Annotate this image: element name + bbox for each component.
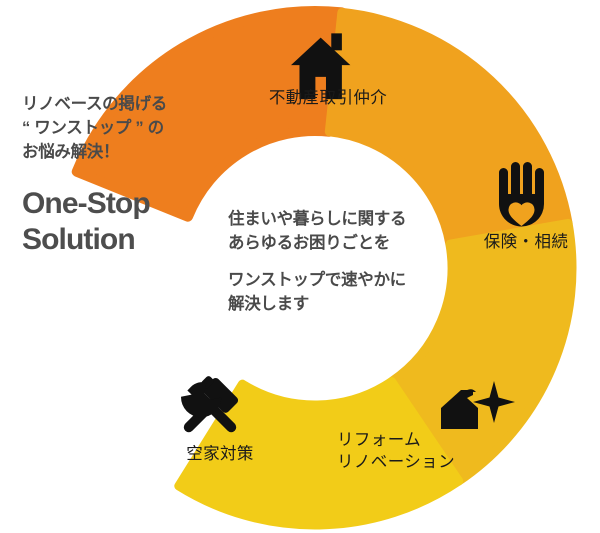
segment-label-vacant[interactable]: 空家対策 bbox=[160, 444, 280, 466]
page-title: One-Stop Solution bbox=[22, 186, 232, 258]
infographic-canvas: リノベースの掲げる “ ワンストップ ” の お悩み解決！ One-Stop S… bbox=[0, 0, 600, 533]
lede-text: リノベースの掲げる “ ワンストップ ” の お悩み解決！ bbox=[22, 92, 232, 164]
center-paragraph-1: 住まいや暮らしに関する あらゆるお困りごとを bbox=[228, 208, 458, 256]
segment-label-reform[interactable]: リフォーム リノベーション bbox=[337, 430, 497, 474]
segment-label-insurance[interactable]: 保険・相続 bbox=[466, 232, 586, 254]
headline-block: リノベースの掲げる “ ワンストップ ” の お悩み解決！ One-Stop S… bbox=[22, 92, 232, 258]
center-paragraph-2: ワンストップで速やかに 解決します bbox=[228, 269, 458, 317]
center-copy-block: 住まいや暮らしに関する あらゆるお困りごとを ワンストップで速やかに 解決します bbox=[228, 208, 458, 317]
segment-label-realestate[interactable]: 不動産取引仲介 bbox=[243, 88, 413, 110]
